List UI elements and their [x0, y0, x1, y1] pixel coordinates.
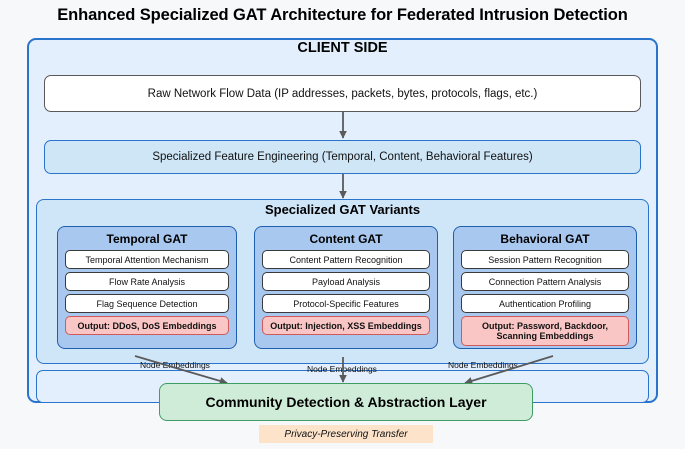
gat-item: Session Pattern Recognition — [461, 250, 629, 269]
community-detection-abstraction-layer-box: Community Detection & Abstraction Layer — [159, 383, 533, 421]
gat-column-behavioral-title: Behavioral GAT — [454, 232, 636, 246]
specialized-gat-variants-label: Specialized GAT Variants — [0, 202, 685, 217]
gat-output-behavioral: Output: Password, Backdoor, Scanning Emb… — [461, 316, 629, 346]
gat-column-temporal-title: Temporal GAT — [58, 232, 236, 246]
gat-output-content: Output: Injection, XSS Embeddings — [262, 316, 430, 335]
privacy-preserving-transfer-label: Privacy-Preserving Transfer — [259, 425, 433, 443]
gat-item: Content Pattern Recognition — [262, 250, 430, 269]
specialized-feature-engineering-box: Specialized Feature Engineering (Tempora… — [44, 140, 641, 174]
gat-column-temporal-items: Temporal Attention Mechanism Flow Rate A… — [65, 250, 229, 335]
gat-item: Authentication Profiling — [461, 294, 629, 313]
gat-item: Payload Analysis — [262, 272, 430, 291]
gat-column-behavioral-items: Session Pattern Recognition Connection P… — [461, 250, 629, 346]
edge-label-node-embeddings-temporal: Node Embeddings — [140, 360, 210, 370]
gat-item: Flow Rate Analysis — [65, 272, 229, 291]
gat-item: Temporal Attention Mechanism — [65, 250, 229, 269]
edge-label-node-embeddings-content: Node Embeddings — [307, 364, 377, 374]
gat-item: Connection Pattern Analysis — [461, 272, 629, 291]
gat-column-temporal: Temporal GAT Temporal Attention Mechanis… — [57, 226, 237, 349]
architecture-diagram: Enhanced Specialized GAT Architecture fo… — [0, 0, 685, 449]
page-title: Enhanced Specialized GAT Architecture fo… — [0, 6, 685, 25]
edge-label-node-embeddings-behavioral: Node Embeddings — [448, 360, 518, 370]
gat-column-content-items: Content Pattern Recognition Payload Anal… — [262, 250, 430, 335]
gat-column-content-title: Content GAT — [255, 232, 437, 246]
gat-item: Protocol-Specific Features — [262, 294, 430, 313]
gat-output-temporal: Output: DDoS, DoS Embeddings — [65, 316, 229, 335]
gat-column-behavioral: Behavioral GAT Session Pattern Recogniti… — [453, 226, 637, 349]
gat-column-content: Content GAT Content Pattern Recognition … — [254, 226, 438, 349]
raw-network-flow-data-box: Raw Network Flow Data (IP addresses, pac… — [44, 75, 641, 112]
client-side-label: CLIENT SIDE — [0, 40, 685, 56]
gat-item: Flag Sequence Detection — [65, 294, 229, 313]
